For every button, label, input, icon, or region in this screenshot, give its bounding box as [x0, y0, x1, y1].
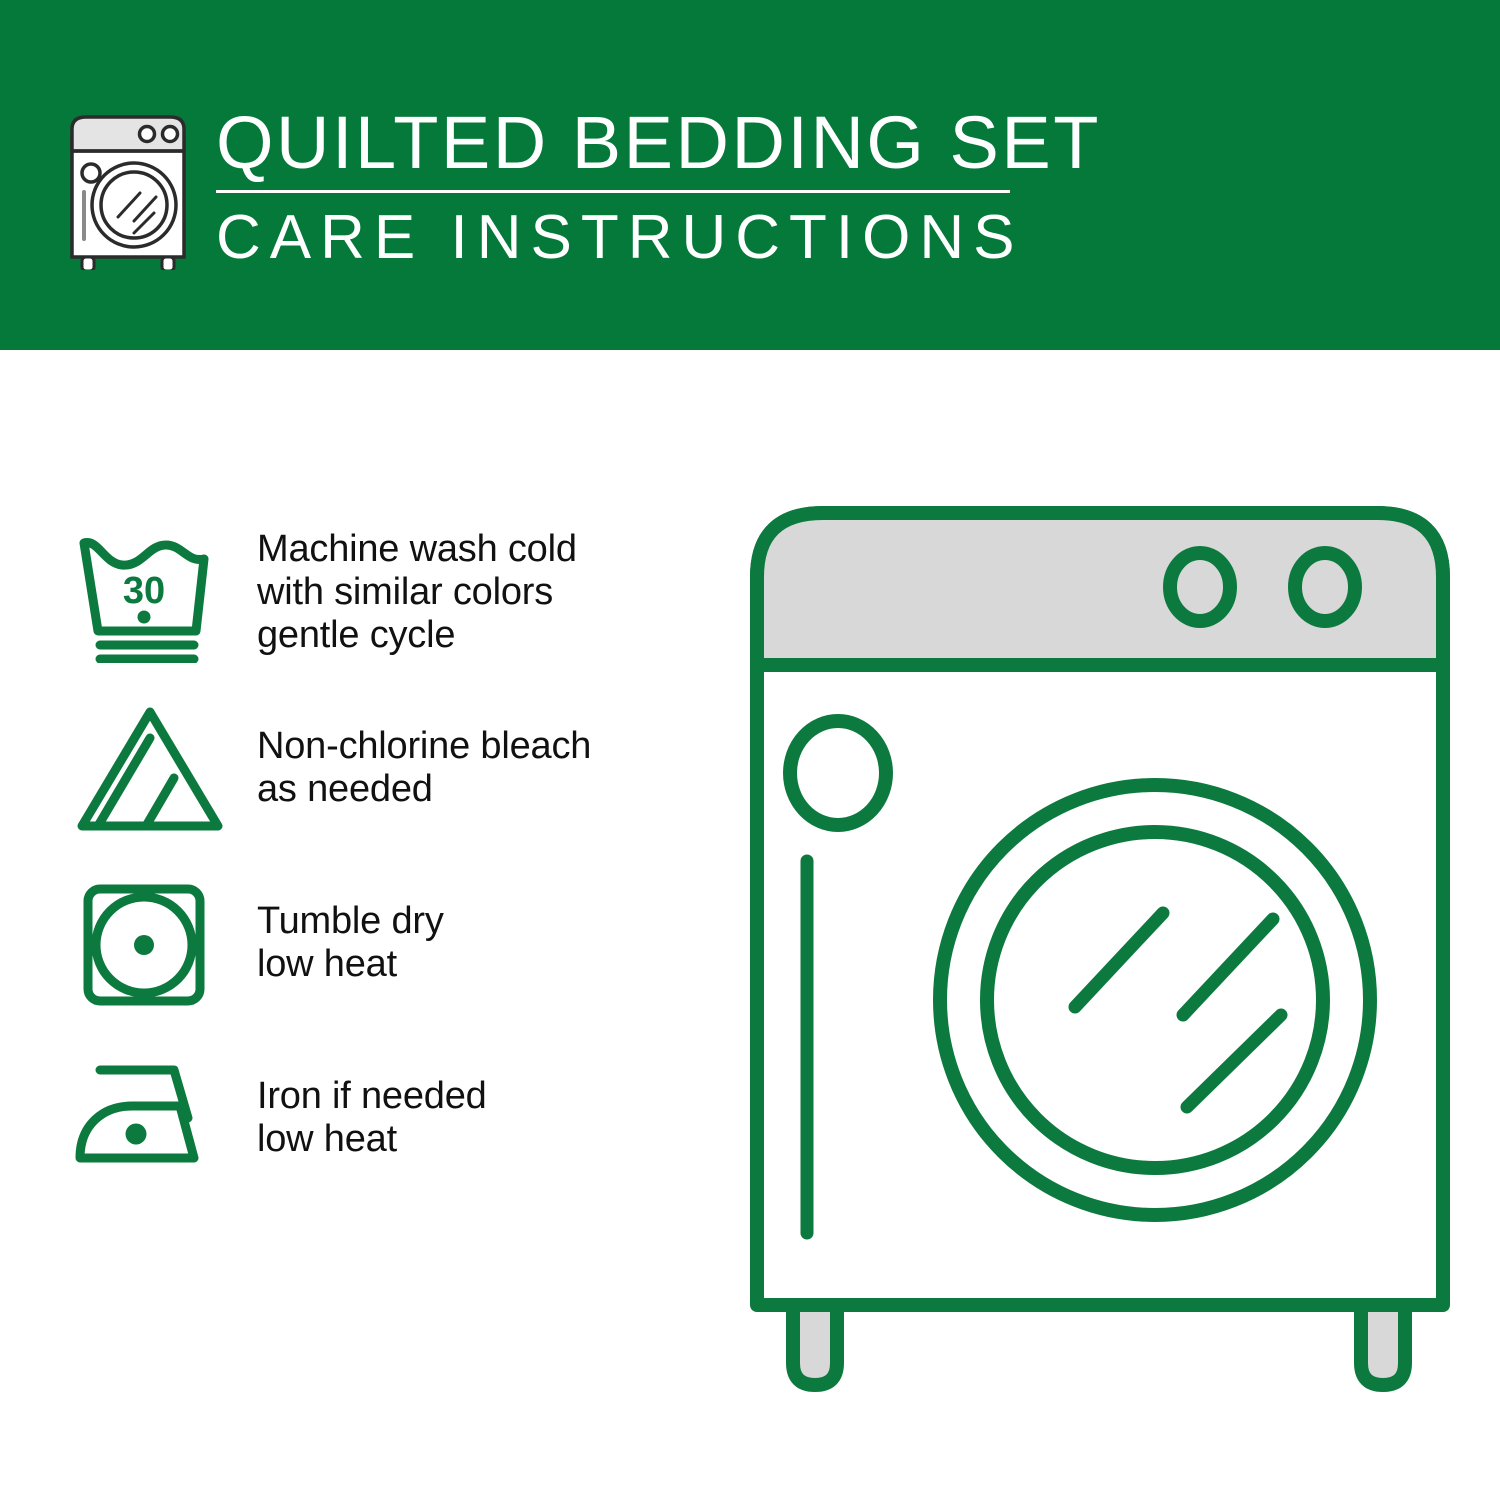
care-text-line: low heat: [257, 943, 444, 986]
care-text-iron: Iron if needed low heat: [257, 1075, 487, 1161]
care-text-wash: Machine wash cold with similar colors ge…: [257, 528, 577, 657]
wash-tub-30-gentle-icon: 30: [70, 523, 245, 663]
care-instruction-list: 30 Machine wash cold with similar colors…: [70, 505, 710, 1205]
care-text-line: gentle cycle: [257, 614, 577, 657]
knob-right: [1295, 553, 1355, 621]
care-row-bleach: Non-chlorine bleach as needed: [70, 680, 710, 855]
front-load-washing-machine-illustration: [745, 495, 1455, 1420]
care-row-iron: Iron if needed low heat: [70, 1030, 710, 1205]
title-divider: [216, 190, 1010, 193]
care-text-line: as needed: [257, 768, 591, 811]
care-text-line: with similar colors: [257, 571, 577, 614]
header-band: QUILTED BEDDING SET CARE INSTRUCTIONS: [0, 0, 1500, 350]
page-subtitle: CARE INSTRUCTIONS: [216, 201, 1016, 275]
care-text-bleach: Non-chlorine bleach as needed: [257, 725, 591, 811]
washing-machine-icon: [62, 105, 202, 270]
tumble-dry-low-icon: [70, 873, 245, 1013]
wash-temperature-value: 30: [123, 570, 165, 612]
care-text-line: Machine wash cold: [257, 528, 577, 571]
care-text-line: Iron if needed: [257, 1075, 487, 1118]
header-text-block: QUILTED BEDDING SET CARE INSTRUCTIONS: [216, 100, 1016, 275]
care-row-wash: 30 Machine wash cold with similar colors…: [70, 505, 710, 680]
knob-left: [1170, 553, 1230, 621]
care-text-line: Tumble dry: [257, 900, 444, 943]
care-text-line: low heat: [257, 1118, 487, 1161]
non-chlorine-bleach-triangle-icon: [70, 698, 245, 838]
care-instructions-page: QUILTED BEDDING SET CARE INSTRUCTIONS 30: [0, 0, 1500, 1500]
care-text-line: Non-chlorine bleach: [257, 725, 591, 768]
iron-low-heat-icon: [70, 1048, 245, 1188]
care-text-tumble-dry: Tumble dry low heat: [257, 900, 444, 986]
care-row-tumble-dry: Tumble dry low heat: [70, 855, 710, 1030]
door-inner-ring: [987, 832, 1323, 1168]
indicator-light: [790, 721, 886, 825]
page-title: QUILTED BEDDING SET: [216, 100, 1016, 186]
